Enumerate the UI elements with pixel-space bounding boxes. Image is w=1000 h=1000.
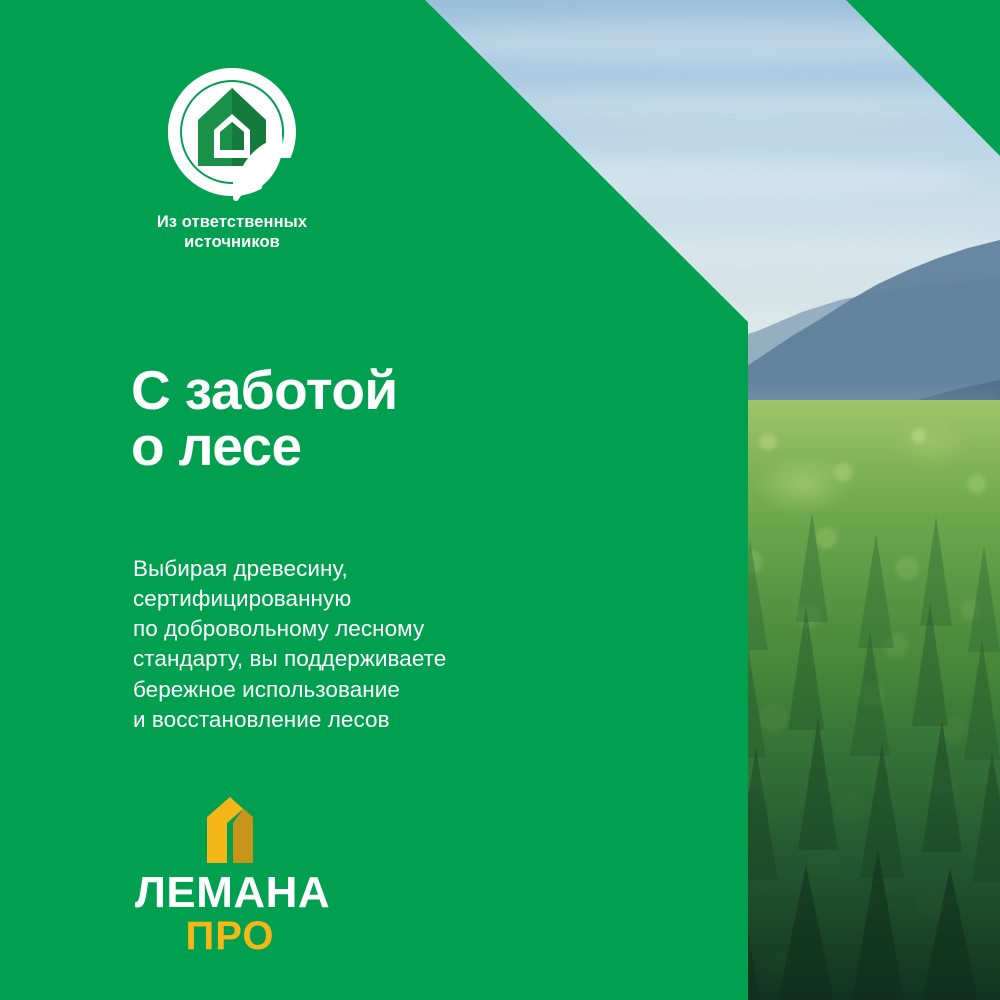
responsible-sources-emblem-icon <box>162 62 302 202</box>
lemana-house-mark-icon <box>191 795 269 865</box>
poster-root: Из ответственных источников С заботой о … <box>0 0 1000 1000</box>
brand-sub: ПРО <box>135 916 325 956</box>
page-title: С заботой о лесе <box>131 362 691 475</box>
poster-content: Из ответственных источников С заботой о … <box>0 0 748 1000</box>
brand-name: ЛЕМАНА <box>135 871 325 915</box>
brand-lockup: ЛЕМАНА ПРО <box>135 795 325 956</box>
responsible-sources-badge: Из ответственных источников <box>132 62 332 252</box>
body-copy: Выбирая древесину, сертифицированную по … <box>133 554 693 736</box>
responsible-sources-caption: Из ответственных источников <box>132 212 332 252</box>
